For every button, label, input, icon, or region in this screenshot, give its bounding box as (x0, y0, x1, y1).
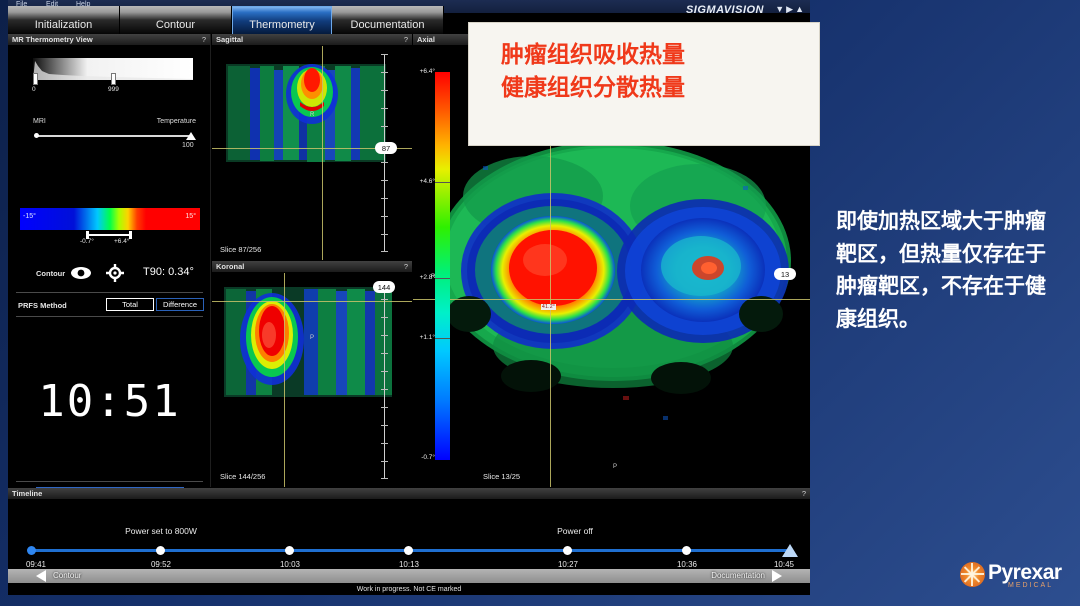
pyrexar-logo: Pyrexar MEDICAL (960, 558, 1068, 592)
tab-documentation[interactable]: Documentation (332, 6, 444, 34)
koronal-orientation-marker: P (310, 335, 314, 341)
left-panel-header: MR Thermometry View ? (8, 34, 210, 46)
temperature-bar-min-label: -15° (23, 213, 36, 220)
sidebar-caption-text: 即使加热区域大于肿瘤靶区，但热量仅存在于肿瘤靶区，不存在于健康组织。 (836, 205, 1066, 335)
nav-back-label[interactable]: Contour (53, 571, 81, 580)
prfs-option-total[interactable]: Total (106, 298, 154, 311)
t90-value: T90: 0.34° (143, 266, 194, 278)
nav-back-arrow-icon[interactable] (36, 570, 46, 582)
timeline-time-1: 09:41 (26, 560, 46, 569)
sagittal-crosshair-vertical (322, 46, 323, 260)
timeline-node-5[interactable] (563, 546, 572, 555)
timeline-time-3: 10:03 (280, 560, 300, 569)
panel-divider-bottom (16, 316, 203, 317)
koronal-title: Koronal (216, 262, 244, 271)
crosshair-icon[interactable] (106, 264, 124, 282)
timeline-event-power-off: Power off (557, 526, 593, 536)
sagittal-view-panel: Sagittal ? (212, 34, 412, 260)
koronal-slice-label: Slice 144/256 (220, 472, 265, 481)
logo-subtitle: MEDICAL (1008, 582, 1053, 589)
left-panel-title: MR Thermometry View (12, 35, 93, 44)
temperature-window-low-label: -0.7° (80, 238, 94, 245)
histogram-high-handle[interactable] (111, 73, 116, 85)
temperature-color-bar[interactable] (20, 208, 200, 230)
blend-value-label: 100 (182, 142, 194, 149)
blend-slider-handle[interactable] (186, 132, 196, 140)
bottom-navigation-bar: Contour Documentation (8, 569, 810, 583)
tab-thermometry[interactable]: Thermometry (232, 6, 332, 34)
timeline-event-power-set: Power set to 800W (125, 526, 197, 536)
timeline-panel: Timeline ? 09:41 09:52 10:03 10:13 10:27… (8, 488, 810, 568)
prfs-option-difference[interactable]: Difference (156, 298, 204, 311)
koronal-crosshair-vertical (284, 273, 285, 487)
axial-hotspot-label: 41.2° (541, 304, 556, 310)
nav-forward-arrow-icon[interactable] (772, 570, 782, 582)
temperature-window-range-slider[interactable] (86, 231, 132, 238)
koronal-help-icon[interactable]: ? (404, 262, 408, 271)
axial-slice-badge[interactable]: 13 (774, 268, 796, 280)
histogram-min-label: 0 (32, 86, 36, 93)
histogram-low-handle[interactable] (33, 73, 38, 85)
koronal-slice-ruler[interactable] (384, 281, 385, 479)
timeline-node-4[interactable] (404, 546, 413, 555)
timeline-help-icon[interactable]: ? (802, 489, 806, 498)
annotation-callout-box: 肿瘤组织吸收热量 健康组织分散热量 (468, 22, 820, 146)
axial-slice-label: Slice 13/25 (483, 472, 520, 481)
treatment-clock: 10:51 (8, 376, 211, 427)
sagittal-slice-label: Slice 87/256 (220, 245, 261, 254)
axial-title: Axial (417, 35, 435, 44)
timeline-time-2: 09:52 (151, 560, 171, 569)
koronal-image[interactable]: 144 P Slice 144/256 (212, 273, 412, 487)
eye-icon[interactable] (70, 265, 92, 281)
mr-thermometry-view-panel: MR Thermometry View ? 0 999 MRI Temperat… (8, 34, 211, 487)
colorbar-tick-2: +4.6° (413, 178, 435, 185)
left-panel-help-icon[interactable]: ? (202, 35, 206, 44)
tab-initialization[interactable]: Initialization (8, 6, 120, 34)
contour-label: Contour (36, 269, 65, 278)
sagittal-slice-badge[interactable]: 87 (375, 142, 397, 154)
axial-temperature-colorbar[interactable] (435, 72, 450, 460)
colorbar-tick-1: +6.4° (413, 68, 435, 75)
callout-line-1: 肿瘤组织吸收热量 (501, 39, 819, 72)
timeline-title: Timeline (12, 489, 42, 498)
timeline-track-area[interactable]: 09:41 09:52 10:03 10:13 10:27 10:36 10:4… (8, 500, 810, 568)
blend-label-mri: MRI (33, 118, 46, 125)
blend-slider-track[interactable] (36, 135, 191, 137)
timeline-node-1[interactable] (27, 546, 36, 555)
colorbar-tick-5: -0.7° (413, 454, 435, 461)
slide-root: File Edit Help SIGMAVISION ▼ ▶ ▲ Initial… (0, 0, 1080, 606)
sagittal-orientation-marker: R (310, 112, 314, 118)
colorbar-tick-4: +1.1° (413, 334, 435, 341)
koronal-view-panel: Koronal ? (212, 261, 412, 487)
status-bar-message: Work in progress. Not CE marked (8, 583, 810, 595)
koronal-header: Koronal ? (212, 261, 412, 273)
slide-sidebar: 即使加热区域大于肿瘤靶区，但热量仅存在于肿瘤靶区，不存在于健康组织。 Pyrex… (818, 0, 1080, 606)
timeline-node-3[interactable] (285, 546, 294, 555)
panel-divider-document (16, 481, 203, 482)
colorbar-tick-3: +2.8° (413, 274, 435, 281)
sagittal-help-icon[interactable]: ? (404, 35, 408, 44)
sagittal-header: Sagittal ? (212, 34, 412, 46)
callout-line-2: 健康组织分散热量 (501, 72, 819, 105)
blend-label-temperature: Temperature (157, 118, 196, 125)
sunburst-icon (960, 562, 985, 587)
axial-orientation-posterior: P (613, 464, 617, 470)
timeline-node-6[interactable] (682, 546, 691, 555)
temperature-bar-max-label: 15° (185, 213, 196, 220)
blend-slider-left-stop (34, 133, 39, 138)
timeline-time-5: 10:27 (558, 560, 578, 569)
timeline-header: Timeline ? (8, 488, 810, 500)
timeline-current-marker[interactable] (782, 544, 798, 557)
nav-forward-label[interactable]: Documentation (711, 571, 765, 580)
panel-divider-top (16, 292, 203, 293)
koronal-slice-badge[interactable]: 144 (373, 281, 395, 293)
timeline-time-7: 10:45 (774, 560, 794, 569)
tab-contour[interactable]: Contour (120, 6, 232, 34)
contour-controls-row: Contour T90: 0.34° (8, 261, 210, 289)
prfs-method-label: PRFS Method (18, 301, 67, 310)
timeline-node-2[interactable] (156, 546, 165, 555)
axial-crosshair-horizontal (413, 299, 810, 300)
sagittal-title: Sagittal (216, 35, 243, 44)
histogram-max-label: 999 (108, 86, 119, 93)
koronal-crosshair-horizontal (212, 301, 412, 302)
sagittal-image[interactable]: 87 R Slice 87/256 (212, 46, 412, 260)
timeline-time-4: 10:13 (399, 560, 419, 569)
temperature-window-high-label: +6.4° (114, 238, 129, 245)
timeline-time-6: 10:36 (677, 560, 697, 569)
koronal-thermal-map (212, 273, 412, 487)
